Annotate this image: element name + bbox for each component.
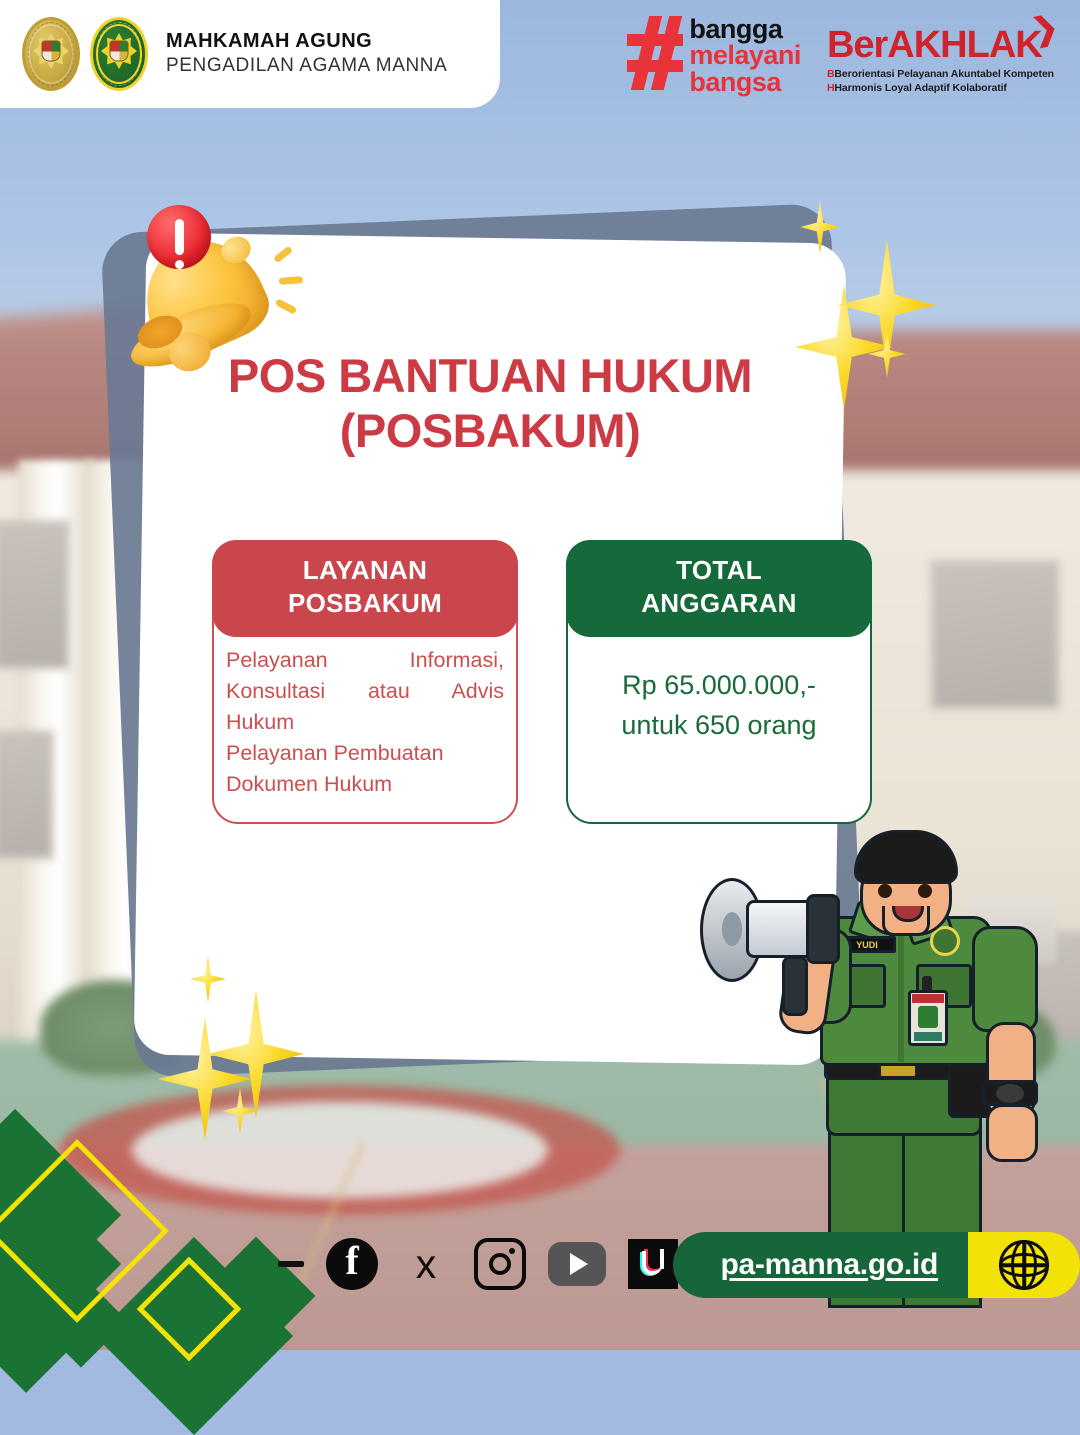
anggaran-amount: Rp 65.000.000,- bbox=[580, 665, 858, 706]
layanan-card-header: LAYANAN POSBAKUM bbox=[212, 540, 518, 637]
x-twitter-icon[interactable]: x bbox=[400, 1238, 452, 1290]
background-window bbox=[0, 520, 70, 670]
header-bar: MAHKAMAH AGUNG PENGADILAN AGAMA MANNA bbox=[0, 0, 500, 108]
hashtag-icon bbox=[627, 16, 683, 90]
officer-right-hand bbox=[986, 1104, 1038, 1162]
bangga-line-1: bangga bbox=[689, 16, 801, 42]
notification-bell-icon bbox=[125, 205, 300, 380]
total-anggaran-card: TOTAL ANGGARAN Rp 65.000.000,- untuk 650… bbox=[566, 540, 872, 824]
megaphone-inner-cone bbox=[722, 912, 742, 946]
officer-shirt-placket bbox=[898, 920, 904, 1062]
officer-eyebrow-left bbox=[876, 874, 892, 880]
berakhlak-text: BerAKHLAK bbox=[827, 24, 1042, 66]
website-pill[interactable]: pa-manna.go.id bbox=[673, 1232, 1080, 1298]
youtube-play-triangle bbox=[570, 1253, 588, 1275]
bangga-line-2: melayani bbox=[689, 42, 801, 68]
instagram-lens bbox=[489, 1253, 511, 1275]
officer-eye-right bbox=[918, 884, 932, 898]
header-text-block: MAHKAMAH AGUNG PENGADILAN AGAMA MANNA bbox=[166, 29, 447, 78]
officer-watch-face bbox=[996, 1084, 1024, 1103]
berakhlak-tagline: BBerorientasi Pelayanan Akuntabel Kompet… bbox=[827, 67, 1054, 95]
mahkamah-agung-crest-icon bbox=[22, 17, 80, 91]
berakhlak-wordmark: BerAKHLAK ❯ bbox=[827, 26, 1042, 64]
layanan-head-line-2: POSBAKUM bbox=[222, 587, 508, 620]
youtube-icon[interactable] bbox=[548, 1242, 606, 1286]
megaphone-handle bbox=[782, 956, 808, 1016]
berakhlak-logo: BerAKHLAK ❯ BBerorientasi Pelayanan Akun… bbox=[827, 16, 1054, 95]
megaphone-rear bbox=[806, 894, 840, 964]
facebook-icon[interactable]: f bbox=[326, 1238, 378, 1290]
website-url[interactable]: pa-manna.go.id bbox=[721, 1248, 938, 1282]
branding-block: bangga melayani bangsa BerAKHLAK ❯ BBero… bbox=[627, 16, 1054, 95]
instagram-dot bbox=[509, 1248, 515, 1254]
instagram-icon[interactable] bbox=[474, 1238, 526, 1290]
info-cards-row: LAYANAN POSBAKUM Pelayanan Informasi, Ko… bbox=[212, 540, 872, 824]
background-window bbox=[0, 730, 54, 860]
bangga-melayani-bangsa-logo: bangga melayani bangsa bbox=[627, 16, 801, 95]
anggaran-card-body: Rp 65.000.000,- untuk 650 orang bbox=[568, 637, 870, 805]
layanan-card-body: Pelayanan Informasi, Konsultasi atau Adv… bbox=[214, 637, 516, 823]
page-title-line-2: (POSBAKUM) bbox=[180, 403, 800, 458]
anggaran-recipients: untuk 650 orang bbox=[580, 705, 858, 746]
berakhlak-tagline-2: Harmonis Loyal Adaptif Kolaboratif bbox=[834, 82, 1006, 94]
social-links-row: f x bbox=[278, 1238, 726, 1290]
layanan-body-line-1: Pelayanan Informasi, Konsultasi atau Adv… bbox=[226, 645, 504, 739]
officer-eyebrow-right bbox=[916, 874, 932, 880]
globe-icon bbox=[999, 1240, 1049, 1290]
org-subtitle: PENGADILAN AGAMA MANNA bbox=[166, 54, 447, 79]
layanan-posbakum-card: LAYANAN POSBAKUM Pelayanan Informasi, Ko… bbox=[212, 540, 518, 824]
website-pill-green[interactable]: pa-manna.go.id bbox=[673, 1232, 968, 1298]
officer-hair bbox=[854, 830, 958, 884]
globe-badge bbox=[968, 1232, 1080, 1298]
officer-id-footer bbox=[914, 1032, 942, 1041]
officer-id-photo bbox=[918, 1006, 938, 1028]
pengadilan-agama-manna-crest-icon bbox=[90, 17, 148, 91]
anggaran-head-line-1: TOTAL bbox=[576, 554, 862, 587]
bangga-line-3: bangsa bbox=[689, 69, 801, 95]
tiktok-icon[interactable] bbox=[628, 1239, 678, 1289]
layanan-body-line-2: Pelayanan Pembuatan Dokumen Hukum bbox=[226, 738, 504, 800]
exclamation-mark-badge-icon bbox=[147, 205, 211, 269]
org-title: MAHKAMAH AGUNG bbox=[166, 29, 447, 53]
layanan-head-line-1: LAYANAN bbox=[222, 554, 508, 587]
officer-right-sleeve bbox=[972, 926, 1038, 1032]
officer-id-header bbox=[912, 994, 944, 1003]
anggaran-card-header: TOTAL ANGGARAN bbox=[566, 540, 872, 637]
anggaran-head-line-2: ANGGARAN bbox=[576, 587, 862, 620]
officer-eye-left bbox=[878, 884, 892, 898]
berakhlak-tagline-1: Berorientasi Pelayanan Akuntabel Kompete… bbox=[834, 68, 1054, 80]
background-window bbox=[930, 560, 1060, 710]
divider-dash-left bbox=[278, 1261, 304, 1267]
